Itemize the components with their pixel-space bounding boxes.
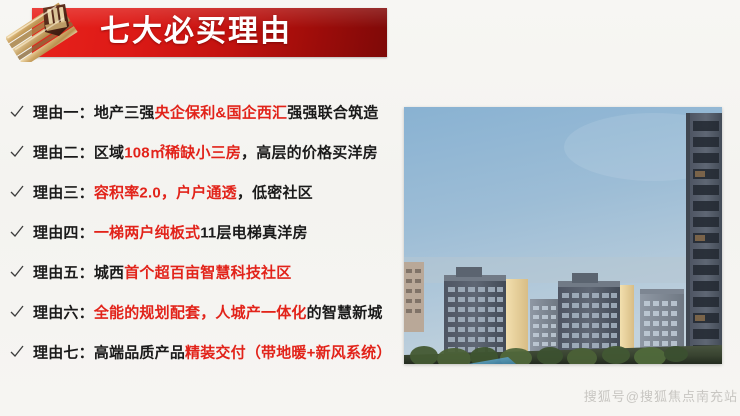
reason-label: 理由三： [33,185,94,202]
gold-scroll-ornament [6,0,86,62]
list-item: 理由七：高端品质产品精装交付（带地暖+新风系统） [0,332,400,372]
reason-text: 理由四：一梯两户纯板式11层电梯真洋房 [33,222,308,243]
reason-highlight: 全能的规划配套，人城产一体化 [94,305,307,322]
reason-plain-after: ，高层的价格买洋房 [241,145,378,162]
reason-text: 理由三：容积率2.0，户户通透，低密社区 [33,182,313,203]
reason-text: 理由二：区域108㎡稀缺小三房，高层的价格买洋房 [33,142,378,163]
reason-plain-after: ，低密社区 [237,185,313,202]
check-icon [10,145,24,159]
reason-text: 理由六：全能的规划配套，人城产一体化的智慧新城 [33,302,383,323]
reason-label: 理由六： [33,305,94,322]
check-icon [10,105,24,119]
reason-plain-before: 高端品质产品 [94,345,185,362]
reason-highlight: 首个超百亩智慧科技社区 [124,265,291,282]
reason-plain-after: 的智慧新城 [307,305,383,322]
check-icon [10,305,24,319]
community-rendering-photo [404,107,722,364]
reason-plain-before: 地产三强 [94,105,155,122]
reason-plain-after: 强强联合筑造 [287,105,378,122]
check-icon [10,265,24,279]
reason-highlight: 108㎡稀缺小三房 [124,145,241,162]
reason-label: 理由二： [33,145,94,162]
check-icon [10,225,24,239]
reason-highlight: 一梯两户纯板式 [94,225,200,242]
reason-label: 理由七： [33,345,94,362]
check-icon [10,185,24,199]
reason-text: 理由七：高端品质产品精装交付（带地暖+新风系统） [33,342,392,363]
page-title: 七大必买理由 [100,10,390,56]
reason-highlight: 央企保利&国企西汇 [155,105,288,122]
list-item: 理由五：城西首个超百亩智慧科技社区 [0,252,400,292]
reason-text: 理由一：地产三强央企保利&国企西汇强强联合筑造 [33,102,378,123]
list-item: 理由一：地产三强央企保利&国企西汇强强联合筑造 [0,92,400,132]
list-item: 理由二：区域108㎡稀缺小三房，高层的价格买洋房 [0,132,400,172]
list-item: 理由四：一梯两户纯板式11层电梯真洋房 [0,212,400,252]
title-banner: 七大必买理由 [0,0,400,70]
reason-label: 理由四： [33,225,94,242]
reasons-list: 理由一：地产三强央企保利&国企西汇强强联合筑造 理由二：区域108㎡稀缺小三房，… [0,92,400,372]
reason-plain-before: 区域 [94,145,124,162]
reason-highlight: 精装交付（带地暖+新风系统） [185,345,392,362]
reason-highlight: 容积率2.0，户户通透 [94,185,237,202]
reason-plain-before: 城西 [94,265,124,282]
reason-label: 理由五： [33,265,94,282]
check-icon [10,345,24,359]
reason-plain-after: 11层电梯真洋房 [200,225,307,242]
watermark: 搜狐号@搜狐焦点南充站 [562,386,738,405]
list-item: 理由六：全能的规划配套，人城产一体化的智慧新城 [0,292,400,332]
reason-text: 理由五：城西首个超百亩智慧科技社区 [33,262,291,283]
list-item: 理由三：容积率2.0，户户通透，低密社区 [0,172,400,212]
reason-label: 理由一： [33,105,94,122]
